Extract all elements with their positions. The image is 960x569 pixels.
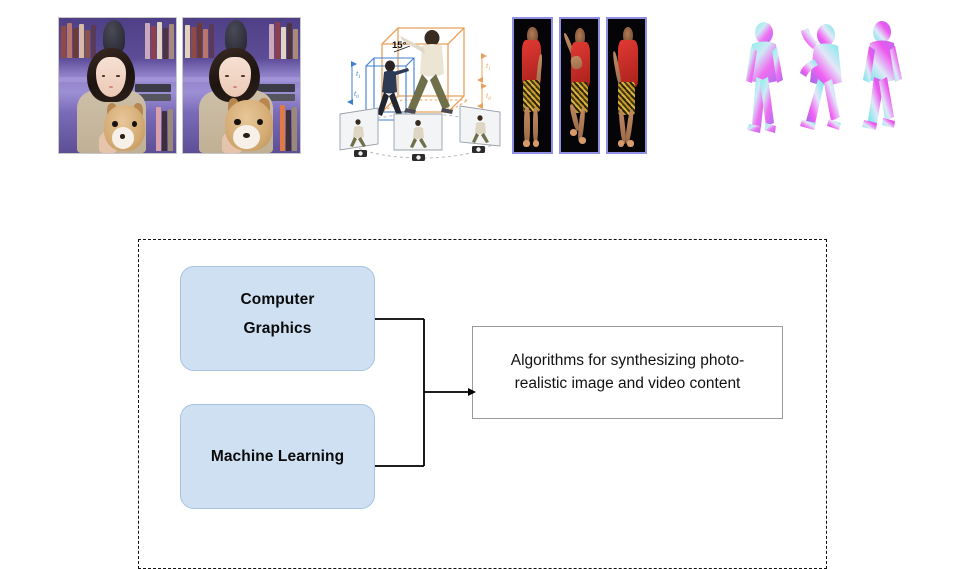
portrait-frame-1 bbox=[58, 17, 177, 154]
dog-head bbox=[225, 100, 273, 151]
dog-eye-right bbox=[132, 121, 137, 127]
connector-arrowhead bbox=[468, 388, 476, 396]
node-output-label: Algorithms for synthesizing photo-realis… bbox=[485, 350, 770, 395]
connector-svg bbox=[370, 310, 480, 475]
mouth bbox=[109, 86, 113, 88]
subject-leg-left bbox=[524, 107, 529, 144]
book-row-upper-right bbox=[145, 21, 174, 59]
node-computer-graphics[interactable]: Computer Graphics bbox=[180, 266, 375, 371]
label-t1-right: t1 bbox=[486, 61, 491, 72]
person-figure bbox=[75, 48, 148, 153]
node-machine-learning-label: Machine Learning bbox=[211, 447, 344, 467]
mesh-group-svg bbox=[730, 17, 916, 159]
node-output-algorithms[interactable]: Algorithms for synthesizing photo-realis… bbox=[472, 326, 783, 419]
dog-eye-left bbox=[234, 119, 240, 126]
book-row-lower-right bbox=[156, 105, 173, 151]
subject-foot-left bbox=[523, 140, 530, 147]
mouth bbox=[233, 86, 238, 88]
slide-canvas: { "slide": { "figure_strip": { "groups":… bbox=[0, 0, 960, 540]
video-frame-1 bbox=[512, 17, 553, 154]
node-label-line-1: Computer bbox=[241, 290, 315, 310]
subject-leg-right bbox=[533, 107, 538, 144]
person-pose-t1 bbox=[400, 30, 453, 114]
mesh-2 bbox=[800, 24, 842, 130]
mesh-1 bbox=[746, 22, 783, 133]
dog-eye-right bbox=[257, 119, 263, 126]
dog-nose bbox=[243, 133, 250, 138]
eye-left bbox=[102, 75, 106, 77]
eye-left bbox=[225, 75, 229, 77]
node-computer-graphics-label: Computer Graphics bbox=[241, 290, 315, 348]
portrait-frame-2 bbox=[182, 17, 301, 154]
book-row-lower-right bbox=[280, 103, 297, 151]
eye-right bbox=[116, 75, 120, 77]
subject-foot-right bbox=[627, 140, 634, 147]
person-figure bbox=[197, 48, 274, 153]
connector-bracket-arrow bbox=[370, 310, 480, 475]
node-machine-learning[interactable]: Machine Learning bbox=[180, 404, 375, 509]
subject-foot-left bbox=[618, 140, 625, 147]
capture-rig-svg: t1 t0 t1 t0 15° bbox=[336, 14, 508, 166]
label-t1-left: t1 bbox=[356, 69, 361, 80]
mesh-reconstruction-group bbox=[730, 17, 916, 159]
plush-dog bbox=[104, 105, 145, 151]
dog-eye-left bbox=[112, 121, 117, 127]
plush-dog bbox=[225, 100, 273, 151]
label-t0-right: t0 bbox=[486, 91, 491, 102]
mesh-3 bbox=[862, 21, 902, 130]
capture-rig-diagram: t1 t0 t1 t0 15° bbox=[336, 14, 508, 166]
label-t0-left: t0 bbox=[354, 89, 359, 100]
video-frame-strip bbox=[512, 17, 647, 154]
eye-right bbox=[241, 75, 245, 77]
dog-head bbox=[104, 105, 145, 151]
label-angle-15deg: 15° bbox=[392, 40, 407, 51]
node-label-line-2: Graphics bbox=[241, 319, 315, 339]
subject-foot-right bbox=[533, 140, 540, 147]
figure-strip: t1 t0 t1 t0 15° bbox=[0, 0, 960, 175]
subject-shirt bbox=[618, 40, 637, 87]
subject-foot-left bbox=[570, 129, 577, 136]
video-frame-3 bbox=[606, 17, 647, 154]
video-frame-2 bbox=[559, 17, 600, 154]
portrait-photo-pair bbox=[58, 17, 301, 154]
subject-foot-right bbox=[579, 137, 586, 144]
